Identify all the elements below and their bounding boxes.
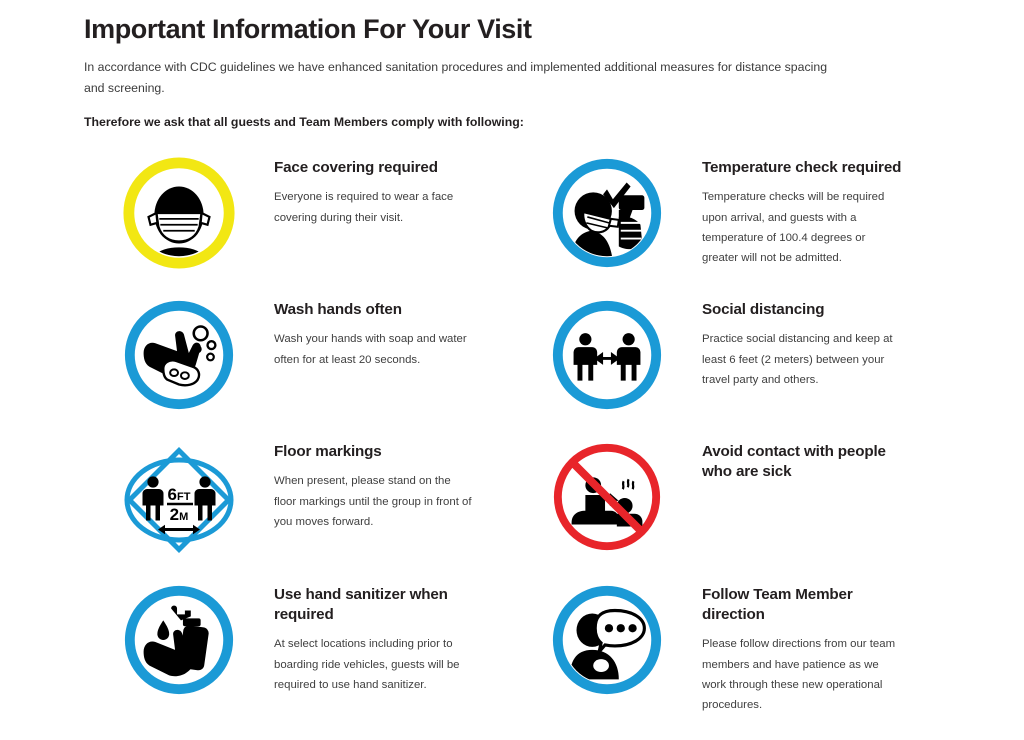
guidance-text-block: Wash hands often Wash your hands with so… bbox=[274, 290, 474, 432]
item-title: Floor markings bbox=[274, 442, 474, 462]
item-body: Temperature checks will be required upon… bbox=[702, 187, 902, 268]
guidance-text-block: Use hand sanitizer when required At sele… bbox=[274, 575, 474, 717]
svg-text:6FT: 6FT bbox=[168, 485, 191, 504]
item-title: Social distancing bbox=[702, 300, 902, 320]
page-title: Important Information For Your Visit bbox=[84, 14, 874, 45]
face-mask-icon-graphic bbox=[120, 154, 238, 272]
item-body: Wash your hands with soap and water ofte… bbox=[274, 329, 474, 370]
item-body: Practice social distancing and keep at l… bbox=[702, 329, 902, 390]
svg-text:2M: 2M bbox=[170, 505, 189, 524]
avoid-sick-contact-icon bbox=[512, 432, 702, 575]
item-body: At select locations including prior to b… bbox=[274, 634, 474, 695]
team-member-direction-icon-graphic bbox=[548, 581, 666, 699]
guidance-item-hand-sanitizer: Use hand sanitizer when required At sele… bbox=[84, 575, 512, 717]
item-title: Follow Team Member direction bbox=[702, 585, 902, 625]
guidance-item-face-covering: Face covering required Everyone is requi… bbox=[84, 148, 512, 290]
guidance-row: Wash hands often Wash your hands with so… bbox=[84, 290, 940, 432]
guidance-item-floor-markings: 6FT 2M Floor markings When present, plea… bbox=[84, 432, 512, 575]
social-distancing-icon-graphic bbox=[548, 296, 666, 414]
guidance-row: 6FT 2M Floor markings When present, plea… bbox=[84, 432, 940, 575]
guidance-grid: Face covering required Everyone is requi… bbox=[84, 148, 940, 717]
face-mask-icon bbox=[84, 148, 274, 290]
item-title: Temperature check required bbox=[702, 158, 902, 178]
guidance-text-block: Floor markings When present, please stan… bbox=[274, 432, 474, 575]
hand-sanitizer-icon bbox=[84, 575, 274, 717]
guidance-item-team-member-direction: Follow Team Member direction Please foll… bbox=[512, 575, 940, 717]
item-body: Please follow directions from our team m… bbox=[702, 634, 902, 715]
compliance-request-text: Therefore we ask that all guests and Tea… bbox=[84, 115, 874, 129]
temperature-check-icon-graphic bbox=[548, 154, 666, 272]
item-title: Avoid contact with people who are sick bbox=[702, 442, 902, 482]
temperature-check-icon bbox=[512, 148, 702, 290]
floor-markings-icon-graphic: 6FT 2M bbox=[117, 438, 241, 562]
item-body: Everyone is required to wear a face cove… bbox=[274, 187, 474, 228]
guidance-item-temperature-check: Temperature check required Temperature c… bbox=[512, 148, 940, 290]
wash-hands-icon-graphic bbox=[120, 296, 238, 414]
avoid-sick-contact-icon-graphic bbox=[548, 438, 666, 556]
item-title: Face covering required bbox=[274, 158, 474, 178]
social-distancing-icon bbox=[512, 290, 702, 432]
floor-markings-icon: 6FT 2M bbox=[84, 432, 274, 575]
page-header: Important Information For Your Visit In … bbox=[84, 14, 874, 129]
item-title: Use hand sanitizer when required bbox=[274, 585, 474, 625]
guidance-text-block: Temperature check required Temperature c… bbox=[702, 148, 902, 290]
guidance-text-block: Social distancing Practice social distan… bbox=[702, 290, 902, 432]
guidance-item-wash-hands: Wash hands often Wash your hands with so… bbox=[84, 290, 512, 432]
item-body: When present, please stand on the floor … bbox=[274, 471, 474, 532]
hand-sanitizer-icon-graphic bbox=[120, 581, 238, 699]
guidance-row: Use hand sanitizer when required At sele… bbox=[84, 575, 940, 717]
item-title: Wash hands often bbox=[274, 300, 474, 320]
wash-hands-icon bbox=[84, 290, 274, 432]
information-page: Important Information For Your Visit In … bbox=[0, 0, 1024, 740]
intro-paragraph: In accordance with CDC guidelines we hav… bbox=[84, 57, 844, 99]
guidance-item-social-distancing: Social distancing Practice social distan… bbox=[512, 290, 940, 432]
guidance-row: Face covering required Everyone is requi… bbox=[84, 148, 940, 290]
guidance-text-block: Avoid contact with people who are sick bbox=[702, 432, 902, 575]
guidance-text-block: Face covering required Everyone is requi… bbox=[274, 148, 474, 290]
guidance-item-avoid-contact: Avoid contact with people who are sick bbox=[512, 432, 940, 575]
guidance-text-block: Follow Team Member direction Please foll… bbox=[702, 575, 902, 717]
team-member-direction-icon bbox=[512, 575, 702, 717]
